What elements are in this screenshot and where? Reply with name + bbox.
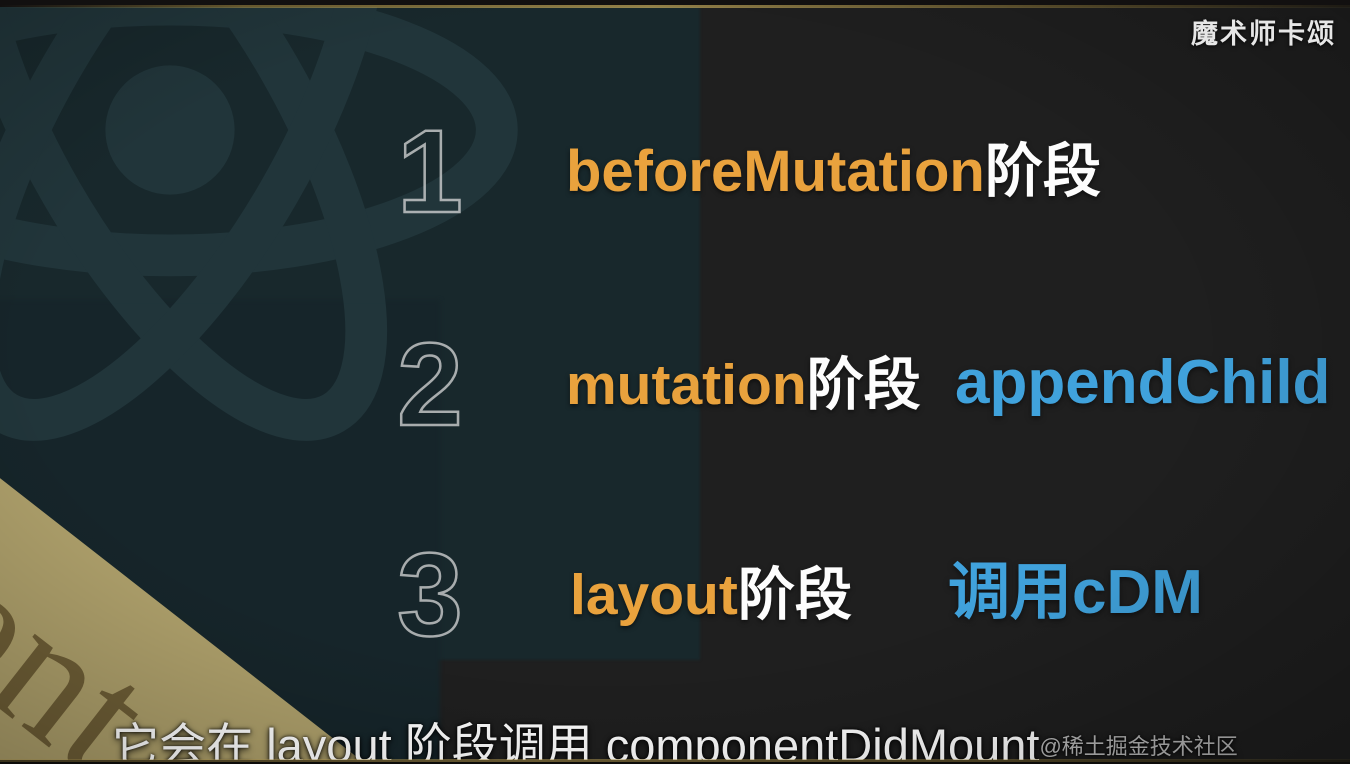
subtitle-bar: 它会在 layout 阶段调用 componentDidMount@稀土掘金技术… (0, 696, 1350, 762)
phase-name-2: mutation (566, 353, 807, 417)
step-number-3: 3 (378, 536, 482, 654)
phase-label-3: layout阶段 (570, 567, 852, 624)
channel-watermark: 魔术师卡颂 (1191, 12, 1336, 51)
phase-suffix-2: 阶段 (807, 353, 921, 417)
subtitle-text: 它会在 layout 阶段调用 componentDidMount (112, 719, 1039, 762)
api-callout-appendchild: appendChild (955, 352, 1330, 414)
step-number-1: 1 (378, 113, 482, 231)
frame-top-edge-glow (0, 5, 1350, 8)
step-number-2: 2 (378, 326, 482, 444)
phase-suffix-1: 阶段 (985, 139, 1101, 204)
phase-list: 1 beforeMutation阶段 2 mutation阶段 3 layout… (0, 0, 1350, 764)
phase-suffix-3: 阶段 (738, 563, 852, 627)
phase-label-2: mutation阶段 (566, 357, 921, 414)
phase-name-1: beforeMutation (566, 139, 985, 204)
subtitle-text-line: 它会在 layout 阶段调用 componentDidMount@稀土掘金技术… (112, 721, 1238, 762)
phase-name-3: layout (570, 563, 738, 627)
phase-label-1: beforeMutation阶段 (566, 143, 1101, 201)
community-watermark: @稀土掘金技术社区 (1039, 734, 1237, 759)
frame-bottom-edge-glow (0, 759, 1350, 762)
phase-row-1: 1 beforeMutation阶段 (0, 112, 1350, 232)
api-callout-cdm: 调用cDM (948, 562, 1203, 624)
video-frame: Placement 1 beforeMutation阶段 2 mutation阶… (0, 0, 1350, 764)
